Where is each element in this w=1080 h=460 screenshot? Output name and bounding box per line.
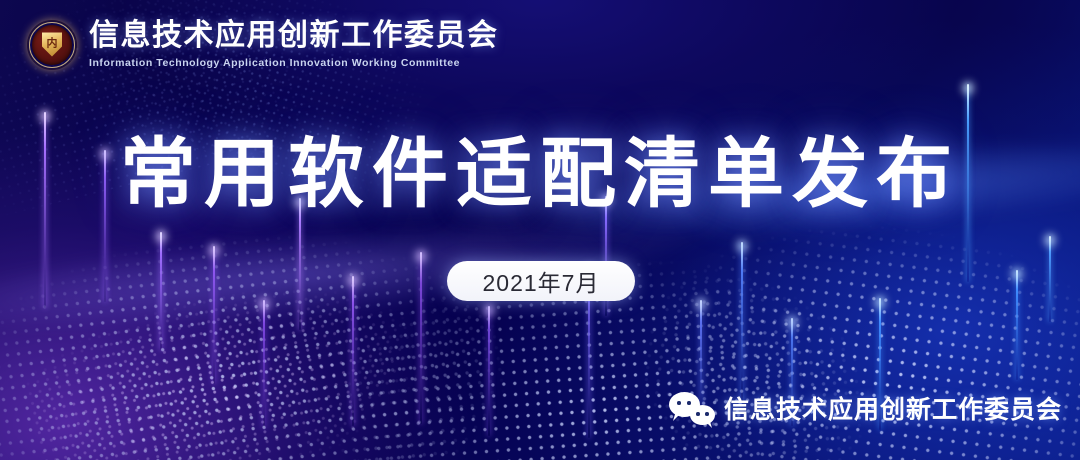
emblem-mark: 内: [47, 38, 58, 49]
date-badge: 2021年7月: [447, 261, 635, 301]
brand-text-block: 信息技术应用创新工作委员会 Information Technology App…: [89, 21, 499, 69]
itaiwc-gold-emblem-icon: 内: [27, 20, 77, 70]
org-name-english: Information Technology Application Innov…: [89, 58, 499, 69]
org-name-chinese: 信息技术应用创新工作委员会: [89, 21, 499, 51]
promotional-banner: 内 信息技术应用创新工作委员会 Information Technology A…: [0, 0, 1080, 460]
wechat-account: 信息技术应用创新工作委员会: [669, 390, 1062, 426]
wechat-icon: [669, 391, 715, 425]
wechat-bubble-small: [690, 405, 715, 425]
wechat-account-name: 信息技术应用创新工作委员会: [724, 390, 1062, 426]
brand-header: 内 信息技术应用创新工作委员会 Information Technology A…: [27, 20, 499, 70]
page-title: 常用软件适配清单发布: [0, 137, 1080, 213]
date-badge-label: 2021年7月: [483, 264, 600, 298]
